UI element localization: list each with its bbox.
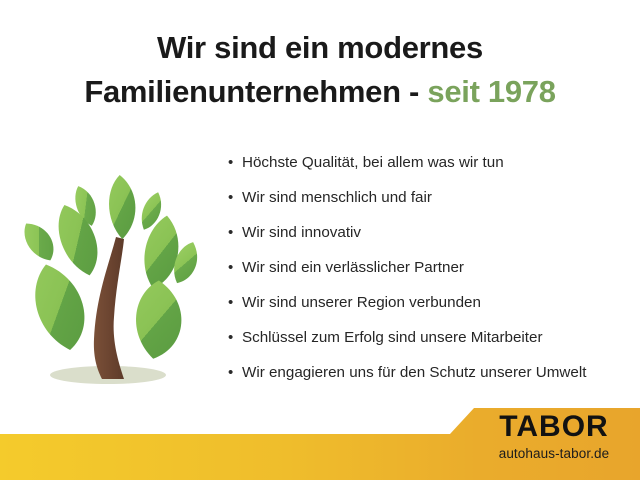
headline-line-1: Wir sind ein modernes	[0, 26, 640, 70]
list-item: • Schlüssel zum Erfolg sind unsere Mitar…	[228, 327, 640, 362]
list-item-label: Wir sind menschlich und fair	[242, 187, 432, 209]
headline-line-2: Familienunternehmen - seit 1978	[0, 70, 640, 114]
value-bullet-list: • Höchste Qualität, bei allem was wir tu…	[228, 152, 640, 397]
bullet-icon: •	[228, 362, 242, 384]
brand-tagline: autohaus-tabor.de	[478, 447, 630, 461]
list-item: • Wir sind menschlich und fair	[228, 187, 640, 222]
page-title: Wir sind ein modernes Familienunternehme…	[0, 26, 640, 114]
list-item-label: Wir engagieren uns für den Schutz unsere…	[242, 362, 586, 384]
bullet-icon: •	[228, 327, 242, 349]
headline-accent-seit-1978: seit 1978	[427, 74, 555, 109]
list-item-label: Schlüssel zum Erfolg sind unsere Mitarbe…	[242, 327, 543, 349]
list-item-label: Wir sind ein verlässlicher Partner	[242, 257, 464, 279]
tree-trunk	[94, 237, 124, 379]
list-item: • Wir sind innovativ	[228, 222, 640, 257]
list-item-label: Höchste Qualität, bei allem was wir tun	[242, 152, 504, 174]
bullet-icon: •	[228, 292, 242, 314]
bullet-icon: •	[228, 257, 242, 279]
list-item: • Wir sind unserer Region verbunden	[228, 292, 640, 327]
brand-logo[interactable]: TABOR autohaus-tabor.de	[478, 412, 630, 461]
list-item-label: Wir sind unserer Region verbunden	[242, 292, 481, 314]
list-item: • Wir sind ein verlässlicher Partner	[228, 257, 640, 292]
headline-line-2-plain: Familienunternehmen -	[84, 74, 427, 109]
list-item: • Wir engagieren uns für den Schutz unse…	[228, 362, 640, 397]
bullet-icon: •	[228, 222, 242, 244]
brand-wordmark: TABOR	[478, 412, 630, 442]
tree-illustration	[12, 163, 208, 391]
list-item: • Höchste Qualität, bei allem was wir tu…	[228, 152, 640, 187]
bullet-icon: •	[228, 187, 242, 209]
slide-canvas: Wir sind ein modernes Familienunternehme…	[0, 0, 640, 480]
bullet-icon: •	[228, 152, 242, 174]
list-item-label: Wir sind innovativ	[242, 222, 361, 244]
